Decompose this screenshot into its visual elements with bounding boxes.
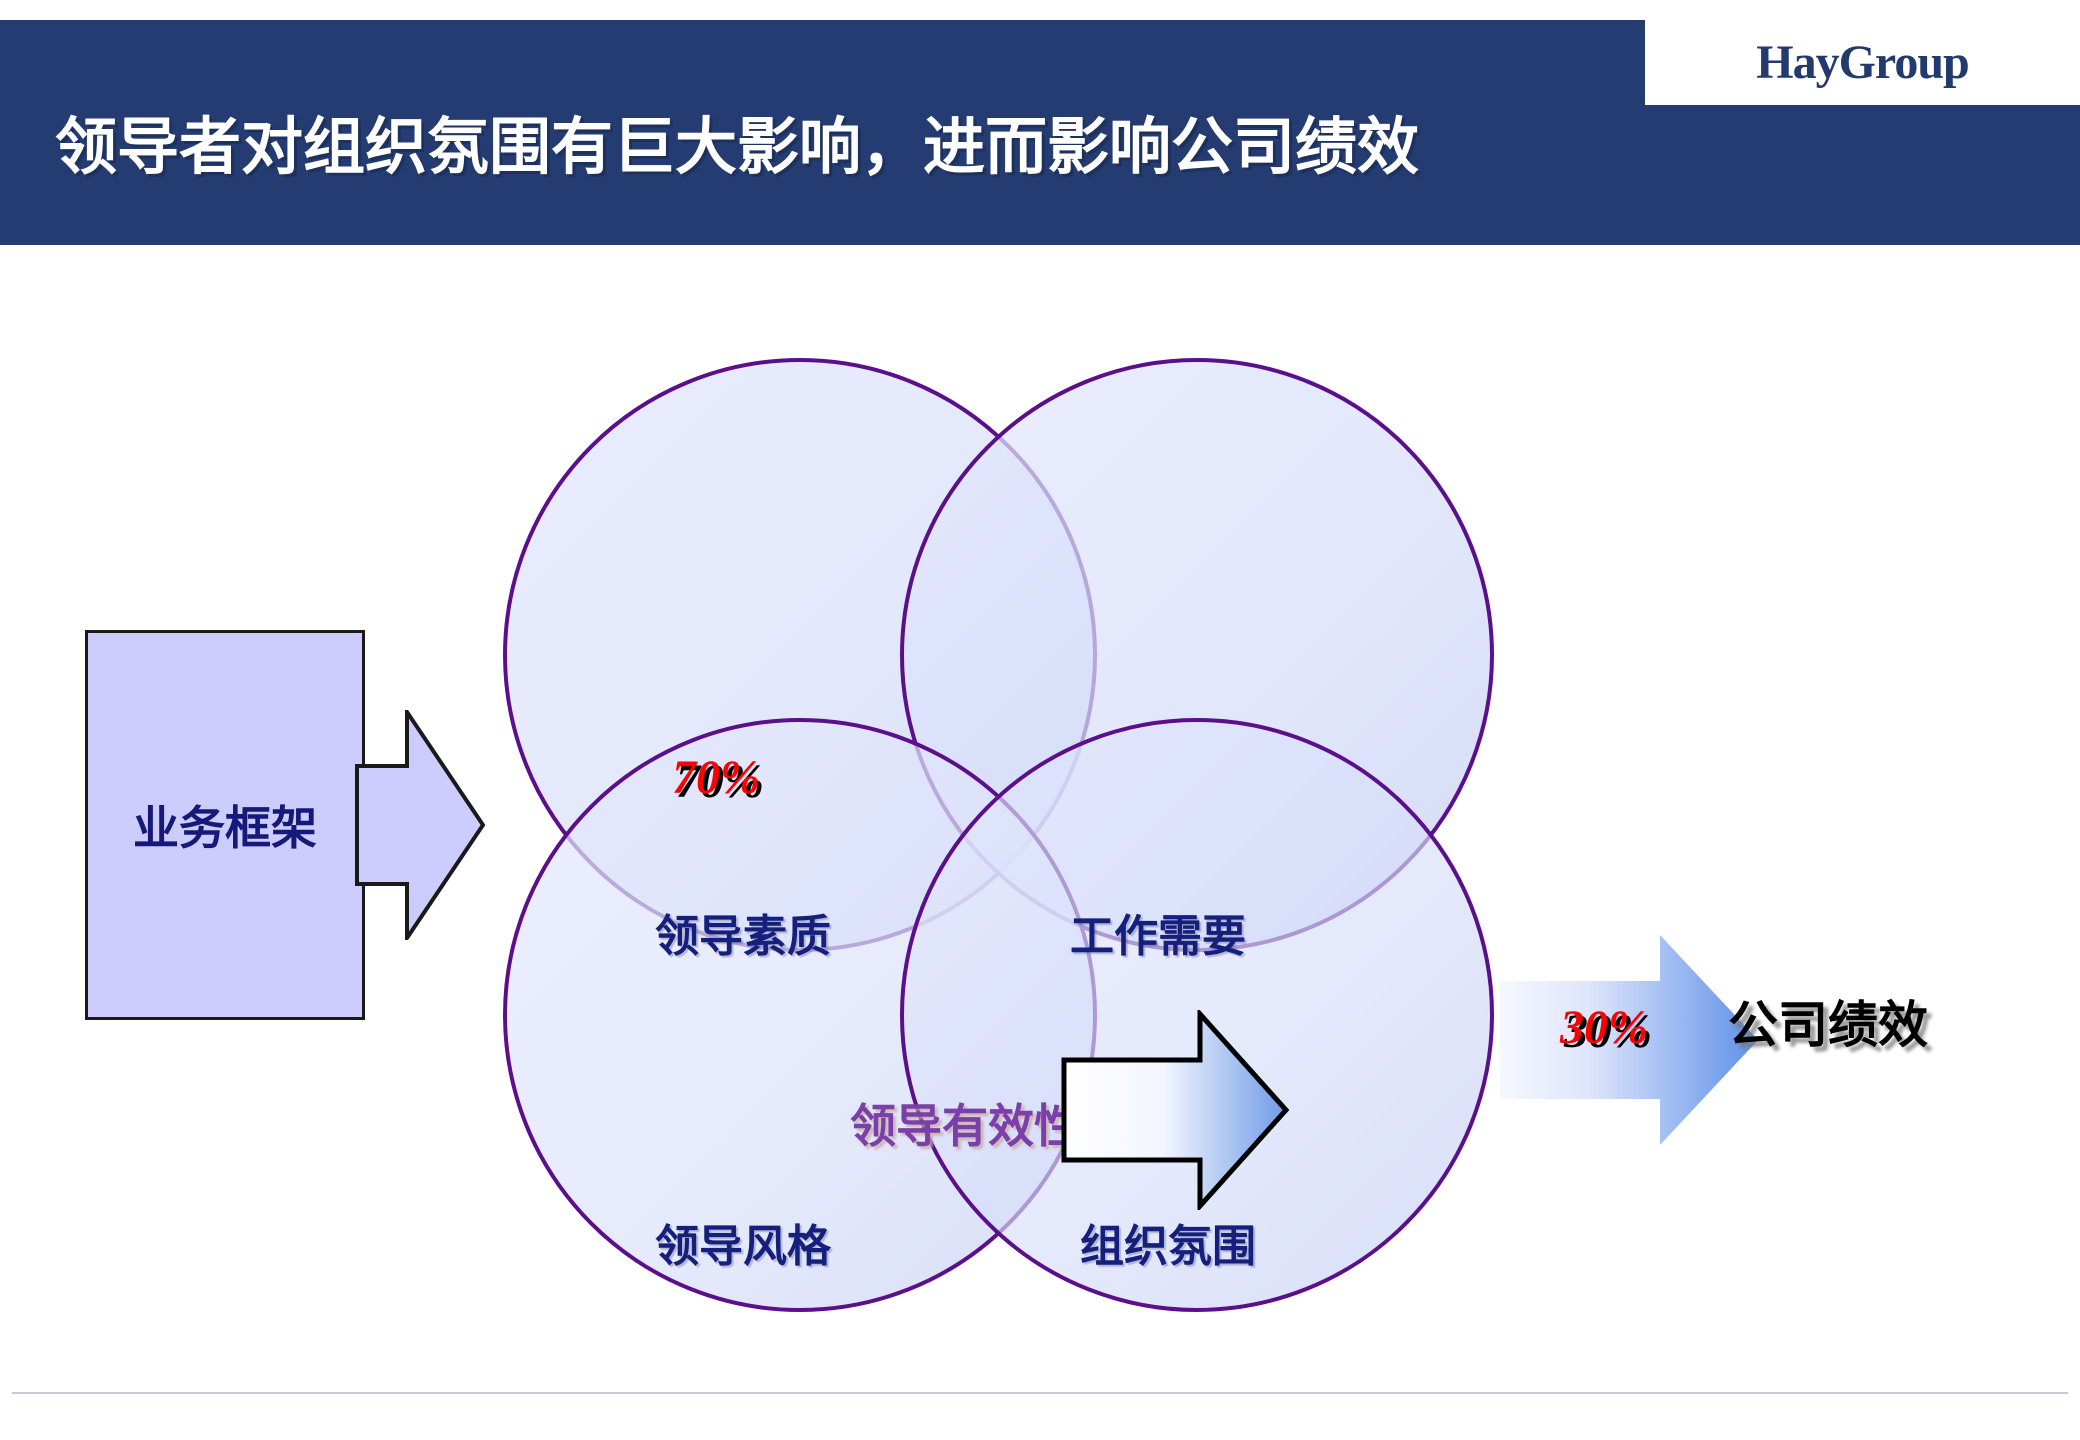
logo-wordmark: HayGroup xyxy=(1756,35,1969,90)
venn-diagram: 领导素质 工作需要 领导风格 组织氛围 领导有效性 xyxy=(440,330,1570,1330)
venn-label-organizational-climate: 组织氛围 xyxy=(1080,1210,1256,1274)
corporate-performance-label: 公司绩效 xyxy=(1728,985,1928,1057)
haygroup-logo: HayGroup xyxy=(1645,20,2080,105)
business-framework-box: 业务框架 xyxy=(85,630,365,1020)
venn-center-label: 领导有效性 xyxy=(850,1090,1080,1156)
venn-label-leadership-quality: 领导素质 xyxy=(655,900,831,964)
venn-circles xyxy=(440,330,1570,1330)
page-title: 领导者对组织氛围有巨大影响，进而影响公司绩效 xyxy=(55,112,1615,184)
inner-arrow-percent-label: 70% xyxy=(672,750,760,805)
right-arrow-icon xyxy=(1060,1010,1290,1210)
outer-arrow-percent-label: 30% xyxy=(1560,1000,1648,1055)
header-band: 领导者对组织氛围有巨大影响，进而影响公司绩效 HayGroup xyxy=(0,20,2080,245)
venn-label-job-requirement: 工作需要 xyxy=(1070,900,1246,964)
business-framework-group: 业务框架 xyxy=(85,630,485,1020)
slide-canvas: 领导者对组织氛围有巨大影响，进而影响公司绩效 HayGroup 业务框架 xyxy=(0,0,2080,1440)
venn-label-leadership-style: 领导风格 xyxy=(655,1210,831,1274)
business-framework-label: 业务框架 xyxy=(133,792,317,858)
footer-divider xyxy=(12,1392,2068,1394)
